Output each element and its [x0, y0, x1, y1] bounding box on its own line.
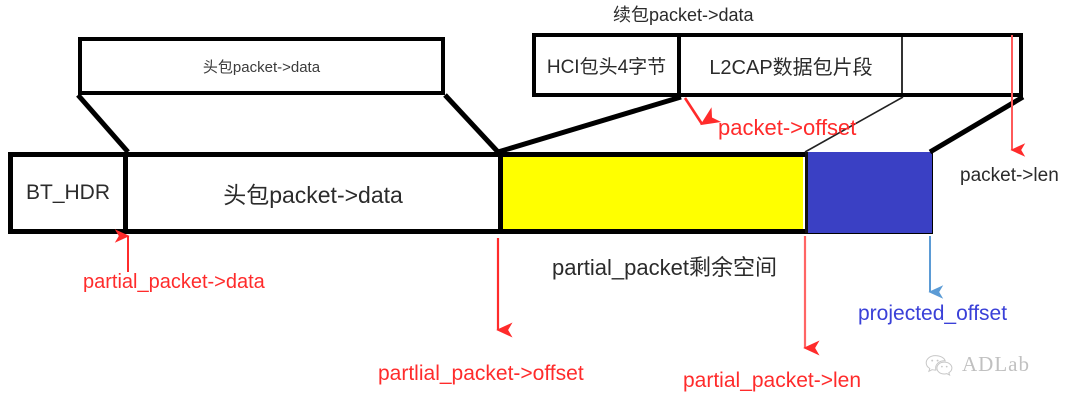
watermark-label: ADLab [962, 352, 1030, 377]
partial-packet-offset-label: partlial_packet->offset [378, 363, 584, 384]
watermark: ADLab [925, 352, 1030, 377]
connector-cont-offset [498, 97, 681, 152]
connector-head-right [445, 95, 498, 152]
partial-packet-len-label: partial_packet->len [683, 370, 861, 391]
head-packet-box: 头包packet->data [78, 37, 445, 95]
partial-packet-remaining-label: partial_packet剩余空间 [552, 257, 777, 279]
bt-hdr-segment: BT_HDR [13, 157, 128, 229]
head-packet-box-label: 头包packet->data [203, 56, 320, 77]
projected-offset-label: projected_offset [858, 303, 1007, 324]
arrow-packet-offset [685, 98, 702, 124]
continuation-packet-title: 续包packet->data [613, 6, 754, 24]
l2cap-fragment-segment: L2CAP数据包片段 [681, 37, 903, 93]
packet-offset-label: packet->offset [718, 117, 856, 139]
remaining-space-segment [498, 157, 803, 229]
head-packet-data-segment: 头包packet->data [128, 157, 498, 229]
connector-head-left [78, 95, 128, 152]
bt-hdr-label: BT_HDR [26, 181, 110, 205]
packet-len-label: packet->len [960, 166, 1059, 185]
partial-packet-data-label: partial_packet->data [83, 272, 265, 292]
diagram-canvas: 头包packet->data 续包packet->data HCI包头4字节 L… [0, 0, 1080, 415]
projected-space-segment [805, 152, 932, 233]
wechat-icon [925, 354, 955, 376]
l2cap-fragment-label: L2CAP数据包片段 [709, 51, 872, 80]
head-packet-data-label: 头包packet->data [223, 176, 403, 210]
connector-packet-end [930, 97, 1023, 152]
continuation-tail-segment [903, 37, 1019, 93]
hci-header-segment: HCI包头4字节 [536, 37, 681, 93]
hci-header-label: HCI包头4字节 [547, 52, 666, 79]
